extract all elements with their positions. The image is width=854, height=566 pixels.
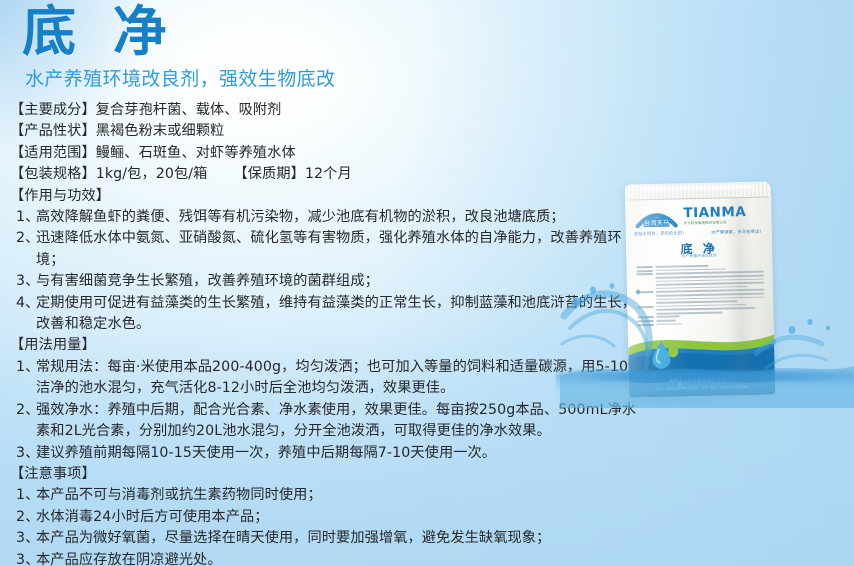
package-body: 台湾天马 TIANMA 天马科技集团股份有限公司 高档水饲料，无与伦比的！ 水产… — [625, 181, 775, 397]
item-number: 3、 — [10, 443, 36, 464]
item-number: 3、 — [10, 550, 36, 566]
package-top-seal — [627, 182, 769, 201]
item-text: 强效净水：养殖中后期，配合光合素、净水素使用，效果更佳。每亩按250g本品、50… — [36, 400, 650, 443]
precaution-item: 2、水体消毒24小时后方可使用本产品； — [10, 507, 650, 528]
usage-item: 1、常规用法：每亩·米使用本品200-400g，均匀泼洒；也可加入等量的饲料和适… — [10, 357, 650, 400]
usage-item: 3、建议养殖前期每隔10-15天使用一次，养殖中后期每隔7-10天使用一次。 — [10, 443, 650, 464]
product-information-body: 【主要成分】复合芽孢杆菌、载体、吸附剂 【产品性状】黑褐色粉末或细颗粒 【适用范… — [10, 100, 650, 566]
spec-row-scope: 【适用范围】鳗鲡、石斑鱼、对虾等养殖水体 — [10, 143, 650, 164]
spec-value: 鳗鲡、石斑鱼、对虾等养殖水体 — [96, 145, 296, 161]
effects-item: 2、迅速降低水体中氨氮、亚硝酸氮、硫化氢等有害物质，强化养殖水体的自净能力，改善… — [10, 228, 650, 271]
page-subtitle: 水产养殖环境改良剂，强效生物底改 — [25, 66, 335, 92]
precaution-item: 3、本产品为微好氧菌，尽量选择在晴天使用，同时要加强增氧，避免发生缺氧现象； — [10, 528, 650, 549]
precaution-item: 1、本产品不可与消毒剂或抗生素药物同时使用； — [10, 485, 650, 506]
item-number: 3、 — [10, 528, 36, 549]
item-number: 2、 — [10, 228, 36, 249]
spec-label: 【适用范围】 — [10, 145, 96, 161]
spec-value: 1kg/包，20包/箱 — [96, 166, 208, 182]
item-number: 4、 — [10, 293, 36, 314]
package-brand-name: TIANMA — [683, 206, 746, 221]
item-text: 本产品应存放在阴凉避光处。 — [36, 550, 650, 566]
spec-row-ingredients: 【主要成分】复合芽孢杆菌、载体、吸附剂 — [10, 100, 650, 121]
item-number: 3、 — [10, 271, 36, 292]
item-text: 定期使用可促进有益藻类的生长繁殖，维持有益藻类的正常生长，抑制蓝藻和池底浒苔的生… — [36, 293, 650, 336]
item-text: 与有害细菌竞争生长繁殖，改善养殖环境的菌群组成； — [36, 271, 650, 292]
item-number: 2、 — [10, 507, 36, 528]
package-slogan-left: 高档水饲料，无与伦比的！ — [634, 230, 687, 237]
spec-value: 黑褐色粉末或细颗粒 — [96, 123, 225, 139]
svg-text:台湾天马: 台湾天马 — [644, 217, 670, 227]
spec-label: 【主要成分】 — [10, 102, 96, 118]
product-poster: 底 净 水产养殖环境改良剂，强效生物底改 【主要成分】复合芽孢杆菌、载体、吸附剂… — [0, 0, 854, 566]
tianma-roof-logo-icon: 台湾天马 — [634, 205, 678, 229]
product-package-image: 台湾天马 TIANMA 天马科技集团股份有限公司 高档水饲料，无与伦比的！ 水产… — [625, 181, 775, 397]
item-text: 水体消毒24小时后方可使用本产品； — [36, 507, 650, 528]
precaution-item: 3、本产品应存放在阴凉避光处。 — [10, 550, 650, 566]
spec-value-shelf-life: 12个月 — [305, 166, 352, 182]
usage-item: 2、强效净水：养殖中后期，配合光合素、净水素使用，效果更佳。每亩按250g本品、… — [10, 400, 650, 443]
section-heading-usage: 【用法用量】 — [10, 335, 650, 356]
spec-label: 【产品性状】 — [10, 123, 96, 139]
section-heading-effects: 【作用与功效】 — [10, 186, 650, 207]
item-number: 1、 — [10, 485, 36, 506]
item-text: 本产品不可与消毒剂或抗生素药物同时使用； — [36, 485, 650, 506]
item-text: 高效降解鱼虾的粪便、残饵等有机污染物，减少池底有机物的淤积，改良池塘底质； — [36, 207, 650, 228]
item-text: 建议养殖前期每隔10-15天使用一次，养殖中后期每隔7-10天使用一次。 — [36, 443, 650, 464]
spec-label-shelf-life: 【保质期】 — [233, 166, 304, 182]
item-number: 1、 — [10, 207, 36, 228]
effects-item: 3、与有害细菌竞争生长繁殖，改善养殖环境的菌群组成； — [10, 271, 650, 292]
spec-label: 【包装规格】 — [10, 166, 96, 182]
package-brand-row: 台湾天马 TIANMA 天马科技集团股份有限公司 — [634, 202, 764, 231]
page-title: 底 净 — [22, 2, 176, 62]
section-heading-precautions: 【注意事项】 — [10, 464, 650, 485]
spec-row-appearance: 【产品性状】黑褐色粉末或细颗粒 — [10, 121, 650, 142]
package-slogan-row: 高档水饲料，无与伦比的！ 水产营销家，天马在身边！ — [634, 229, 764, 238]
item-number: 1、 — [10, 357, 36, 378]
item-text: 本产品为微好氧菌，尽量选择在晴天使用，同时要加强增氧，避免发生缺氧现象； — [36, 528, 650, 549]
item-number: 2、 — [10, 400, 36, 421]
item-text: 常规用法：每亩·米使用本品200-400g，均匀泼洒；也可加入等量的饲料和适量碳… — [36, 357, 650, 400]
package-brand-tagline: 天马科技集团股份有限公司 — [684, 221, 747, 226]
spec-value: 复合芽孢杆菌、载体、吸附剂 — [96, 102, 282, 118]
water-drop-icon — [648, 338, 683, 373]
effects-item: 1、高效降解鱼虾的粪便、残饵等有机污染物，减少池底有机物的淤积，改良池塘底质； — [10, 207, 650, 228]
effects-item: 4、定期使用可促进有益藻类的生长繁殖，维持有益藻类的正常生长，抑制蓝藻和池底浒苔… — [10, 293, 650, 336]
package-slogan-right: 水产营销家，天马在身边！ — [711, 229, 764, 236]
spec-row-packaging: 【包装规格】1kg/包，20包/箱【保质期】12个月 — [10, 164, 650, 185]
item-text: 迅速降低水体中氨氮、亚硝酸氮、硫化氢等有害物质，强化养殖水体的自净能力，改善养殖… — [36, 228, 650, 271]
